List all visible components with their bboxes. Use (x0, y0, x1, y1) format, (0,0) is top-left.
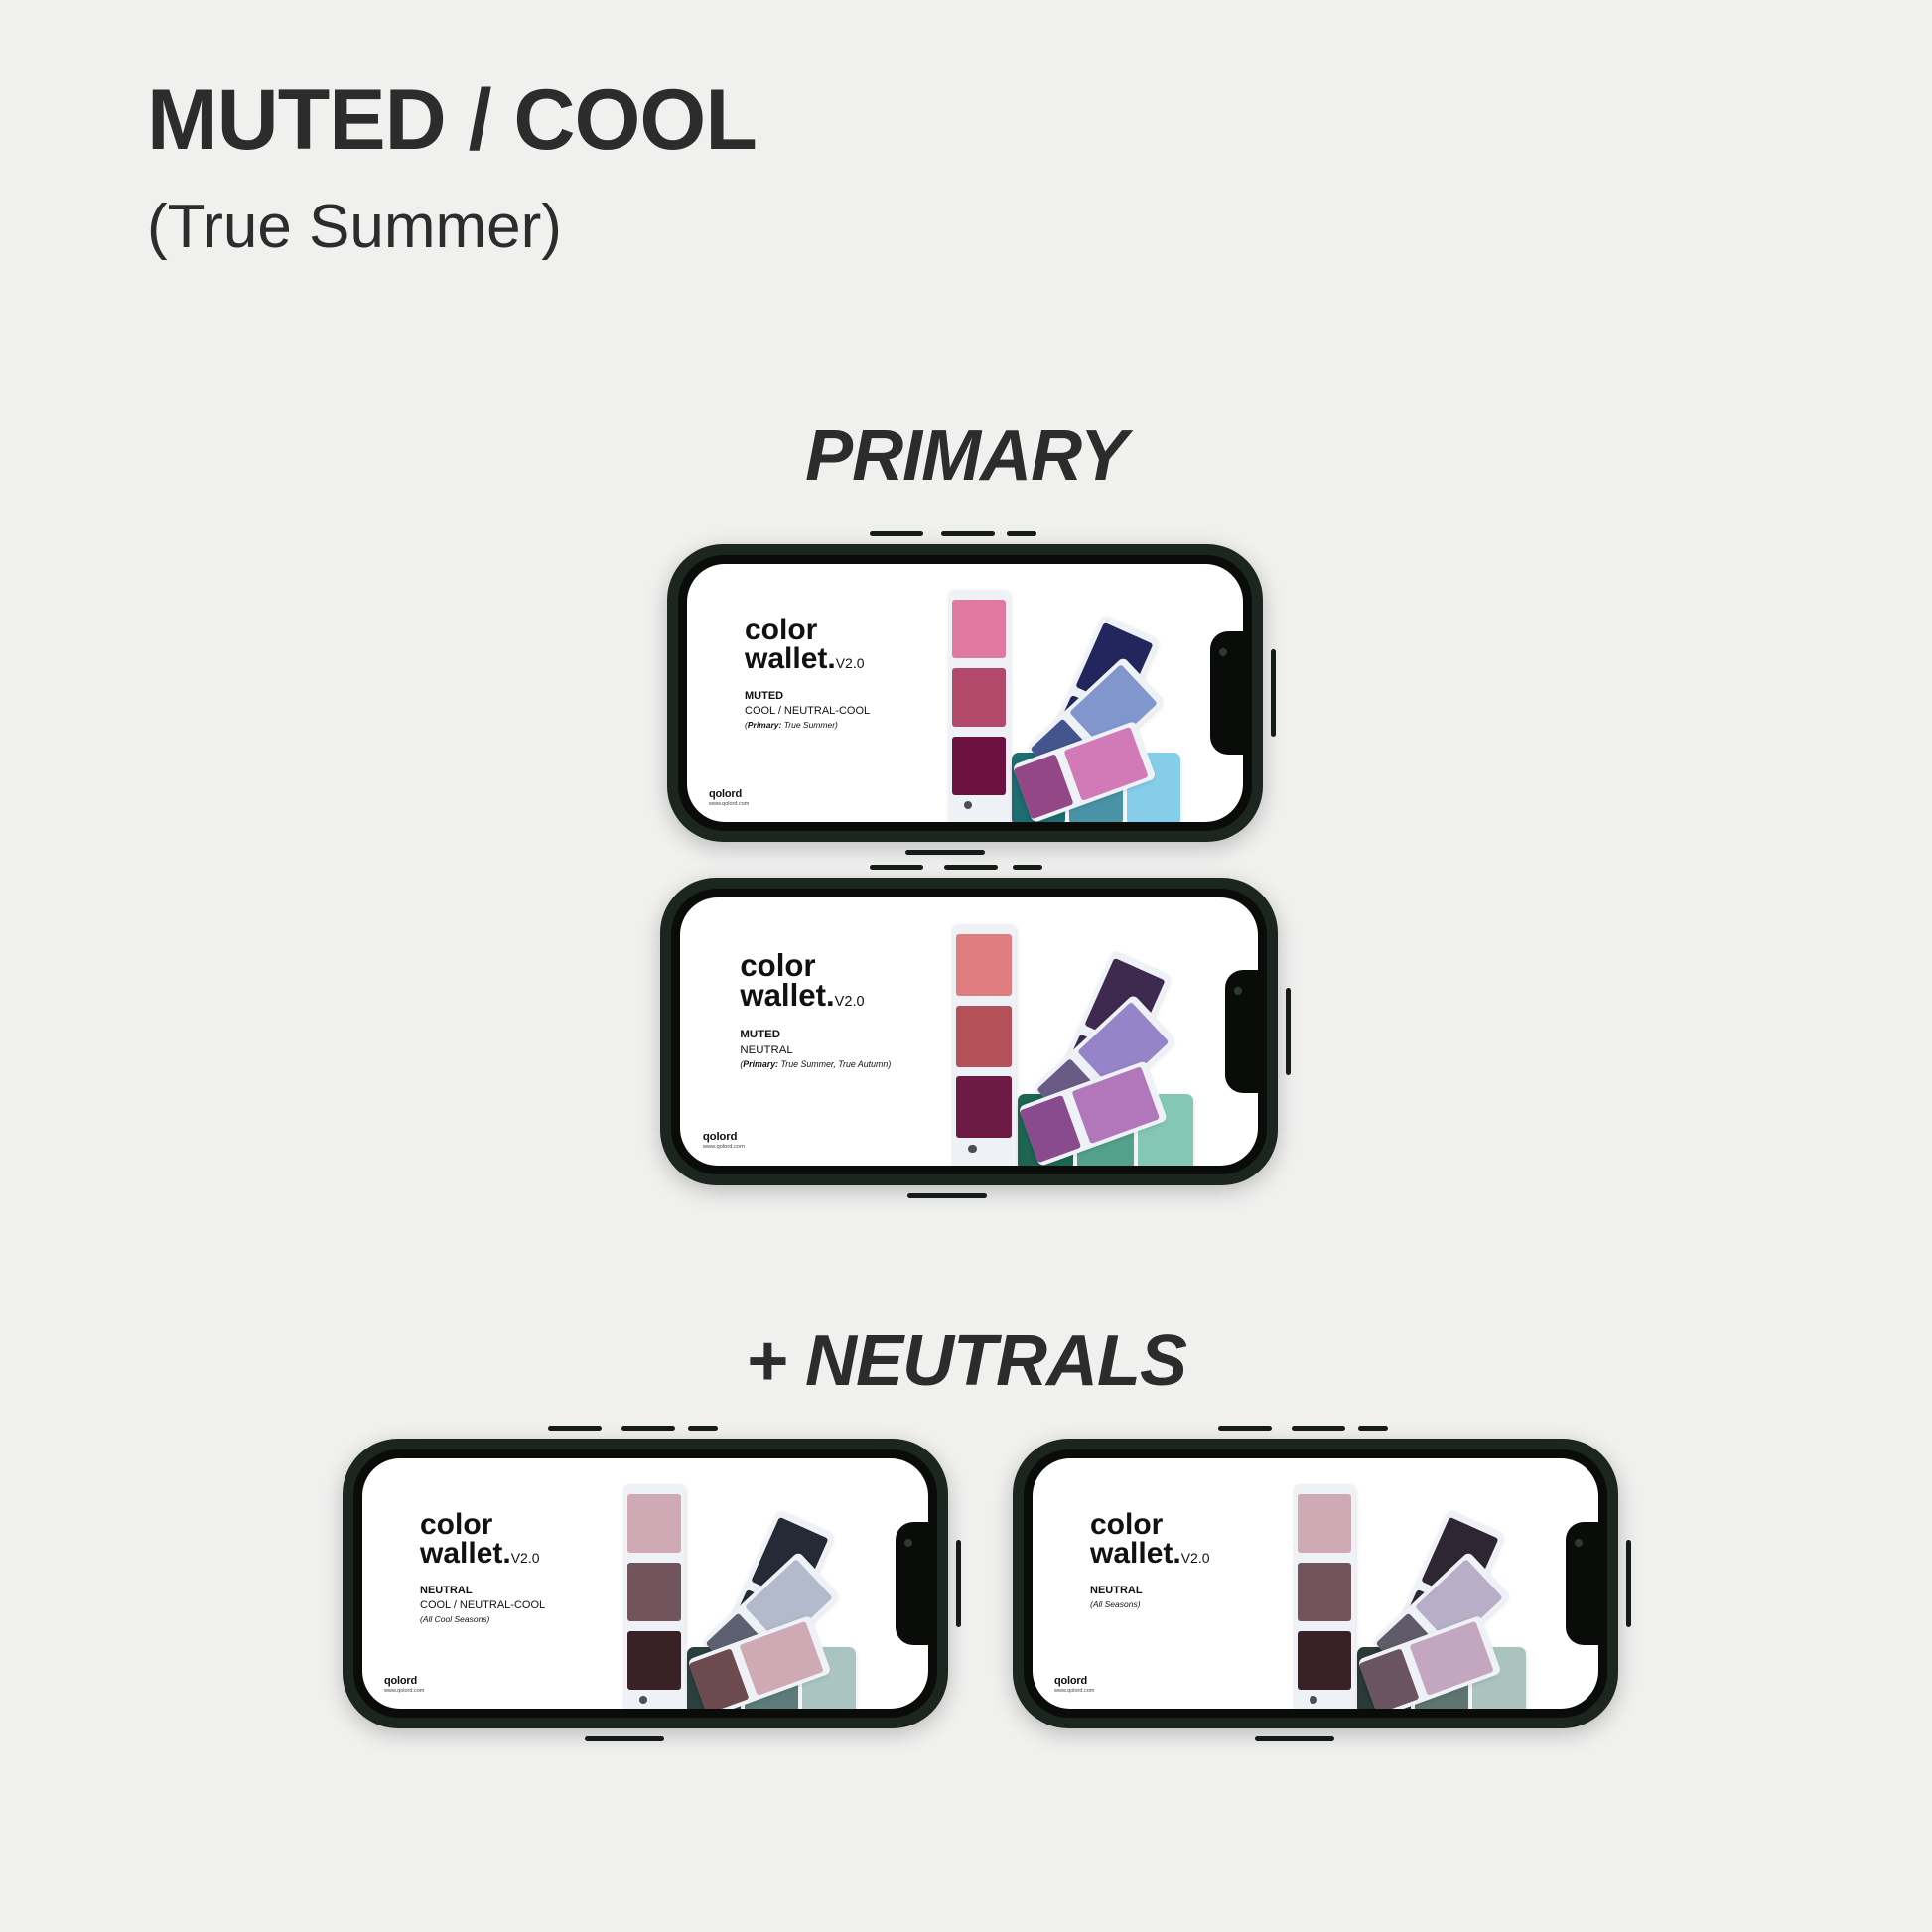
section-heading-neutrals: + NEUTRALS (0, 1320, 1932, 1402)
phone-bezel: colorwallet.V2.0MUTEDNEUTRAL(Primary: Tr… (671, 889, 1267, 1174)
brand-wordmark: colorwallet.V2.0 (740, 951, 864, 1012)
phone-mockup-phone-primary-neutral[interactable]: colorwallet.V2.0MUTEDNEUTRAL(Primary: Tr… (660, 878, 1278, 1185)
vol-b-button[interactable] (941, 531, 995, 536)
section-heading-neutrals-label: + NEUTRALS (746, 1320, 1186, 1402)
color-fan-deck[interactable] (943, 912, 1191, 1166)
bottom-button[interactable] (905, 850, 985, 855)
brand-version: V2.0 (835, 994, 865, 1010)
phone-bezel: colorwallet.V2.0MUTEDCOOL / NEUTRAL-COOL… (678, 555, 1252, 831)
fan-base-card[interactable] (952, 924, 1016, 1166)
mute-button[interactable] (1007, 531, 1036, 536)
front-camera-icon (904, 1539, 912, 1547)
brand-line-color: color (1090, 1510, 1210, 1539)
palette-meta: MUTEDCOOL / NEUTRAL-COOL(Primary: True S… (745, 689, 870, 732)
palette-meta-title: MUTED (745, 689, 870, 704)
qolord-logo-name: qolord (1054, 1675, 1094, 1687)
bottom-button[interactable] (1255, 1736, 1334, 1741)
power-button[interactable] (1271, 649, 1276, 737)
qolord-logo[interactable]: qolordwww.qolord.com (384, 1675, 424, 1695)
phone-mockup-phone-primary-cool[interactable]: colorwallet.V2.0MUTEDCOOL / NEUTRAL-COOL… (667, 544, 1263, 842)
vol-a-button[interactable] (870, 865, 923, 870)
section-heading-primary: PRIMARY (0, 415, 1932, 496)
palette-meta-note: (Primary: True Summer, True Autumn) (740, 1058, 891, 1072)
qolord-logo-name: qolord (703, 1131, 745, 1143)
mute-button[interactable] (688, 1426, 718, 1431)
mute-button[interactable] (1013, 865, 1042, 870)
power-button[interactable] (1286, 988, 1291, 1075)
palette-meta-subtitle: NEUTRAL (740, 1043, 891, 1059)
qolord-logo[interactable]: qolordwww.qolord.com (709, 788, 749, 808)
color-fan-deck[interactable] (616, 1472, 854, 1709)
fan-base-card[interactable] (623, 1484, 685, 1709)
palette-meta: NEUTRAL(All Seasons) (1090, 1584, 1143, 1611)
brand-wordmark: colorwallet.V2.0 (420, 1510, 540, 1568)
front-camera-icon (1234, 987, 1242, 995)
palette-meta-subtitle: COOL / NEUTRAL-COOL (745, 704, 870, 719)
notch (1566, 1522, 1598, 1645)
brand-wordmark: colorwallet.V2.0 (1090, 1510, 1210, 1568)
fan-base-card[interactable] (1294, 1484, 1355, 1709)
qolord-logo-url: www.qolord.com (384, 1687, 424, 1695)
color-chip[interactable] (1298, 1494, 1351, 1554)
brand-version: V2.0 (1181, 1550, 1210, 1566)
section-heading-primary-label: PRIMARY (805, 415, 1127, 496)
phone-screen[interactable]: colorwallet.V2.0NEUTRALCOOL / NEUTRAL-CO… (362, 1458, 928, 1709)
color-chip[interactable] (952, 668, 1006, 728)
vol-a-button[interactable] (870, 531, 923, 536)
fan-pivot-dot-icon (964, 801, 972, 809)
color-chip[interactable] (952, 737, 1006, 796)
qolord-logo-name: qolord (384, 1675, 424, 1687)
color-chip[interactable] (956, 934, 1012, 996)
palette-meta: MUTEDNEUTRAL(Primary: True Summer, True … (740, 1028, 891, 1072)
color-chip[interactable] (956, 1006, 1012, 1067)
phone-bezel: colorwallet.V2.0NEUTRALCOOL / NEUTRAL-CO… (353, 1449, 937, 1718)
palette-meta-title: MUTED (740, 1028, 891, 1043)
brand-line-wallet: wallet.V2.0 (1090, 1539, 1210, 1568)
fan-pivot-dot-icon (968, 1145, 976, 1153)
vol-a-button[interactable] (1218, 1426, 1272, 1431)
brand-line-wallet: wallet.V2.0 (420, 1539, 540, 1568)
palette-meta-note: (Primary: True Summer) (745, 719, 870, 732)
vol-b-button[interactable] (944, 865, 998, 870)
brand-version: V2.0 (511, 1550, 540, 1566)
palette-meta-note-label: Primary: (743, 1059, 778, 1069)
color-chip[interactable] (1298, 1631, 1351, 1691)
brand-line-color: color (745, 616, 865, 644)
bottom-button[interactable] (585, 1736, 664, 1741)
fan-pivot-dot-icon (639, 1696, 647, 1704)
power-button[interactable] (956, 1540, 961, 1627)
brand-version: V2.0 (836, 655, 865, 671)
brand-line-wallet: wallet.V2.0 (740, 981, 864, 1011)
palette-meta-subtitle: COOL / NEUTRAL-COOL (420, 1598, 545, 1613)
front-camera-icon (1219, 648, 1227, 656)
qolord-logo-url: www.qolord.com (703, 1143, 745, 1151)
page-title: MUTED / COOL (147, 77, 757, 163)
palette-meta-note-label: Primary: (748, 720, 782, 730)
color-chip[interactable] (1298, 1563, 1351, 1622)
qolord-logo[interactable]: qolordwww.qolord.com (703, 1131, 745, 1152)
qolord-logo-name: qolord (709, 788, 749, 800)
phone-screen[interactable]: colorwallet.V2.0MUTEDNEUTRAL(Primary: Tr… (680, 897, 1258, 1166)
notch (1225, 970, 1258, 1093)
vol-b-button[interactable] (621, 1426, 675, 1431)
mute-button[interactable] (1358, 1426, 1388, 1431)
fan-pivot-dot-icon (1310, 1696, 1317, 1704)
qolord-logo[interactable]: qolordwww.qolord.com (1054, 1675, 1094, 1695)
color-fan-deck[interactable] (1286, 1472, 1524, 1709)
color-chip[interactable] (956, 1076, 1012, 1138)
notch (1210, 631, 1243, 755)
color-chip[interactable] (627, 1563, 681, 1622)
phone-screen[interactable]: colorwallet.V2.0NEUTRAL(All Seasons)qolo… (1033, 1458, 1598, 1709)
phone-screen[interactable]: colorwallet.V2.0MUTEDCOOL / NEUTRAL-COOL… (687, 564, 1243, 822)
front-camera-icon (1575, 1539, 1583, 1547)
vol-a-button[interactable] (548, 1426, 602, 1431)
bottom-button[interactable] (907, 1193, 987, 1198)
color-chip[interactable] (952, 600, 1006, 659)
palette-meta-title: NEUTRAL (420, 1584, 545, 1598)
phone-mockup-phone-neutral-cool[interactable]: colorwallet.V2.0NEUTRALCOOL / NEUTRAL-CO… (343, 1439, 948, 1728)
brand-line-color: color (420, 1510, 540, 1539)
color-chip[interactable] (627, 1494, 681, 1554)
page-subtitle: (True Summer) (147, 197, 562, 258)
vol-b-button[interactable] (1292, 1426, 1345, 1431)
notch (896, 1522, 928, 1645)
palette-meta-note: (All Cool Seasons) (420, 1613, 545, 1626)
phone-bezel: colorwallet.V2.0NEUTRAL(All Seasons)qolo… (1024, 1449, 1607, 1718)
brand-line-color: color (740, 951, 864, 981)
qolord-logo-url: www.qolord.com (1054, 1687, 1094, 1695)
qolord-logo-url: www.qolord.com (709, 800, 749, 808)
brand-line-wallet: wallet.V2.0 (745, 644, 865, 673)
power-button[interactable] (1626, 1540, 1631, 1627)
palette-meta-note: (All Seasons) (1090, 1598, 1143, 1611)
brand-wordmark: colorwallet.V2.0 (745, 616, 865, 673)
palette-meta: NEUTRALCOOL / NEUTRAL-COOL(All Cool Seas… (420, 1584, 545, 1626)
color-fan-deck[interactable] (940, 578, 1178, 822)
phone-mockup-phone-neutral-all[interactable]: colorwallet.V2.0NEUTRAL(All Seasons)qolo… (1013, 1439, 1618, 1728)
fan-base-card[interactable] (948, 590, 1010, 822)
palette-meta-title: NEUTRAL (1090, 1584, 1143, 1598)
color-chip[interactable] (627, 1631, 681, 1691)
